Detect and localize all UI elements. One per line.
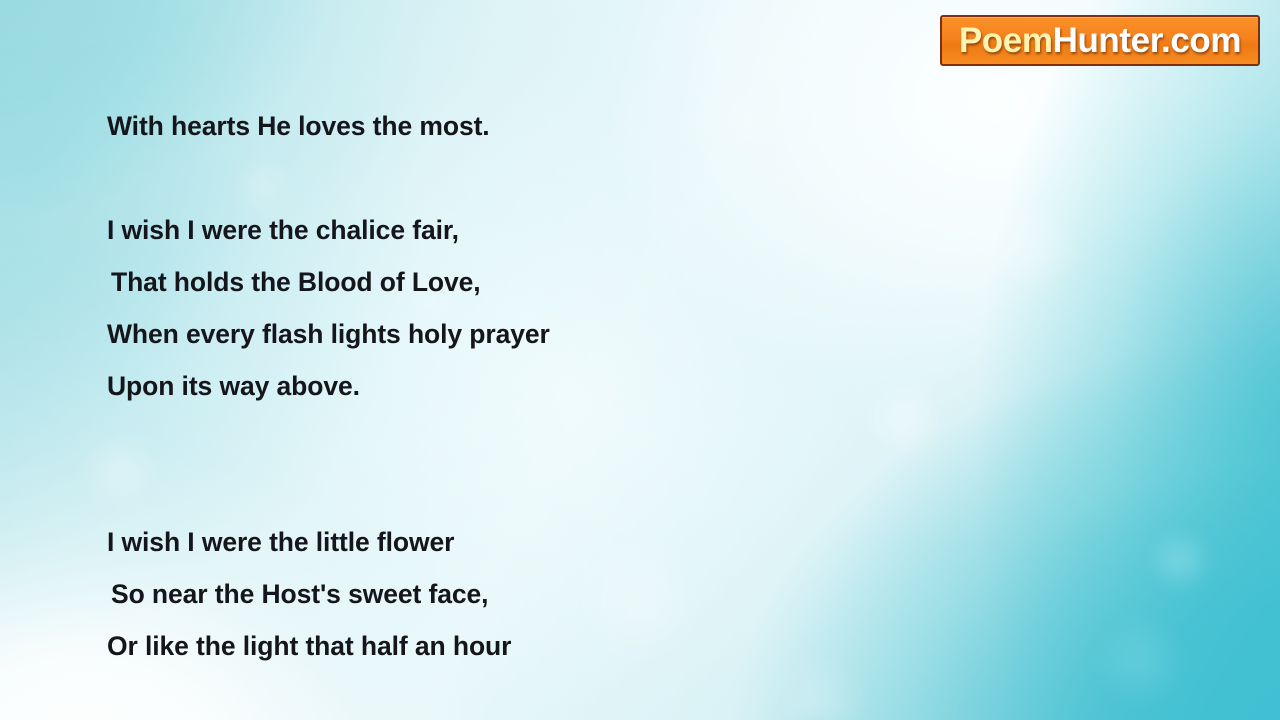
poem-line-blank bbox=[107, 464, 1007, 516]
poem-line-blank bbox=[107, 152, 1007, 204]
poem-line: Or like the light that half an hour bbox=[107, 620, 1007, 672]
poem-line: When every flash lights holy prayer bbox=[107, 308, 1007, 360]
poem-line: That holds the Blood of Love, bbox=[107, 256, 1007, 308]
poem-line: Upon its way above. bbox=[107, 360, 1007, 412]
poem-line: With hearts He loves the most. bbox=[107, 100, 1007, 152]
poem-text-block: With hearts He loves the most.I wish I w… bbox=[107, 100, 1007, 672]
poem-line: I wish I were the chalice fair, bbox=[107, 204, 1007, 256]
poem-line: So near the Host's sweet face, bbox=[107, 568, 1007, 620]
poem-line-blank bbox=[107, 412, 1007, 464]
logo-text-hunter: Hunter.com bbox=[1053, 23, 1242, 58]
logo-text-poem: Poem bbox=[959, 23, 1053, 58]
poem-slide: PoemHunter.com With hearts He loves the … bbox=[0, 0, 1280, 720]
poem-line: I wish I were the little flower bbox=[107, 516, 1007, 568]
poemhunter-logo[interactable]: PoemHunter.com bbox=[940, 15, 1260, 66]
